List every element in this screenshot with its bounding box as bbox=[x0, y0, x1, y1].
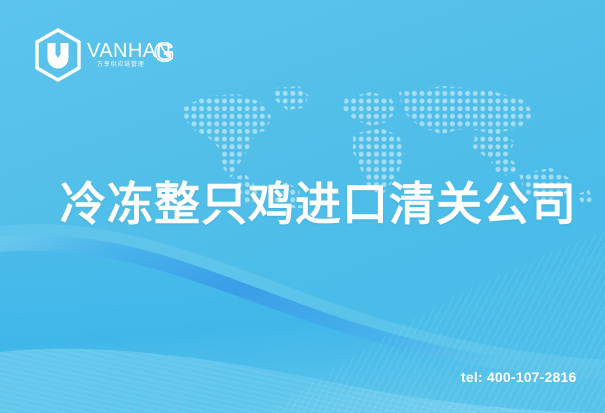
svg-text:G: G bbox=[154, 37, 174, 67]
vanhang-wordmark: VANHAN G 万享供应链管理 bbox=[87, 35, 179, 75]
svg-text:万享供应链管理: 万享供应链管理 bbox=[97, 60, 145, 68]
logo-wordmark-group: VANHAN G 万享供应链管理 VANHANG 万享供应链管理 bbox=[87, 35, 179, 75]
promo-banner: VANHAN G 万享供应链管理 VANHANG 万享供应链管理 冷冻整只鸡进口… bbox=[0, 0, 605, 413]
contact-phone[interactable]: tel: 400-107-2816 bbox=[461, 369, 576, 385]
page-title: 冷冻整只鸡进口清关公司 bbox=[60, 178, 577, 230]
hexagon-u-icon bbox=[33, 28, 83, 82]
brand-logo[interactable]: VANHAN G 万享供应链管理 VANHANG 万享供应链管理 bbox=[33, 28, 179, 82]
